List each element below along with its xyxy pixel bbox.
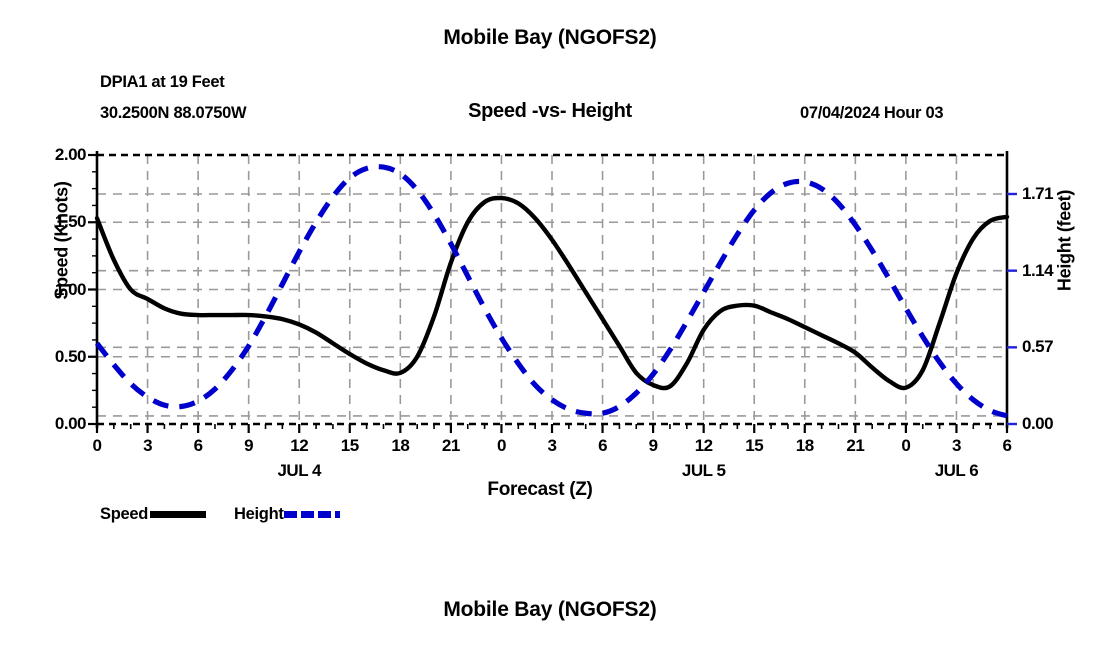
x-axis-tick-label: 9 [229,436,269,456]
y-axis-tick-label-left: 1.00 [28,280,86,300]
y-axis-tick-label-right: 0.57 [1022,337,1080,357]
axis-tick-layer: 0.000.501.001.502.000.000.571.141.710369… [0,0,1100,500]
y-axis-tick-label-left: 1.50 [28,212,86,232]
x-axis-day-label: JUL 5 [659,461,749,481]
legend-label-height: Height [234,505,284,524]
y-axis-tick-label-right: 1.14 [1022,261,1080,281]
chart-legend: Speed Height [100,505,340,524]
x-axis-tick-label: 9 [633,436,673,456]
legend-swatch-speed-icon [150,511,206,518]
x-axis-tick-label: 18 [380,436,420,456]
x-axis-tick-label: 6 [987,436,1027,456]
x-axis-tick-label: 15 [734,436,774,456]
x-axis-tick-label: 0 [481,436,521,456]
x-axis-tick-label: 18 [785,436,825,456]
x-axis-tick-label: 21 [431,436,471,456]
y-axis-tick-label-left: 0.00 [28,414,86,434]
x-axis-tick-label: 12 [684,436,724,456]
x-axis-tick-label: 3 [532,436,572,456]
x-axis-tick-label: 15 [330,436,370,456]
x-axis-tick-label: 12 [279,436,319,456]
y-axis-tick-label-right: 0.00 [1022,414,1080,434]
x-axis-tick-label: 0 [77,436,117,456]
y-axis-tick-label-left: 2.00 [28,145,86,165]
x-axis-tick-label: 6 [583,436,623,456]
x-axis-day-label: JUL 6 [911,461,1001,481]
x-axis-tick-label: 3 [936,436,976,456]
page-title-bottom: Mobile Bay (NGOFS2) [0,598,1100,622]
x-axis-tick-label: 3 [128,436,168,456]
x-axis-tick-label: 21 [835,436,875,456]
x-axis-day-label: JUL 4 [254,461,344,481]
y-axis-tick-label-left: 0.50 [28,347,86,367]
y-axis-tick-label-right: 1.71 [1022,184,1080,204]
x-axis-tick-label: 0 [886,436,926,456]
x-axis-tick-label: 6 [178,436,218,456]
legend-label-speed: Speed [100,505,148,524]
legend-swatch-height-icon [284,511,340,518]
